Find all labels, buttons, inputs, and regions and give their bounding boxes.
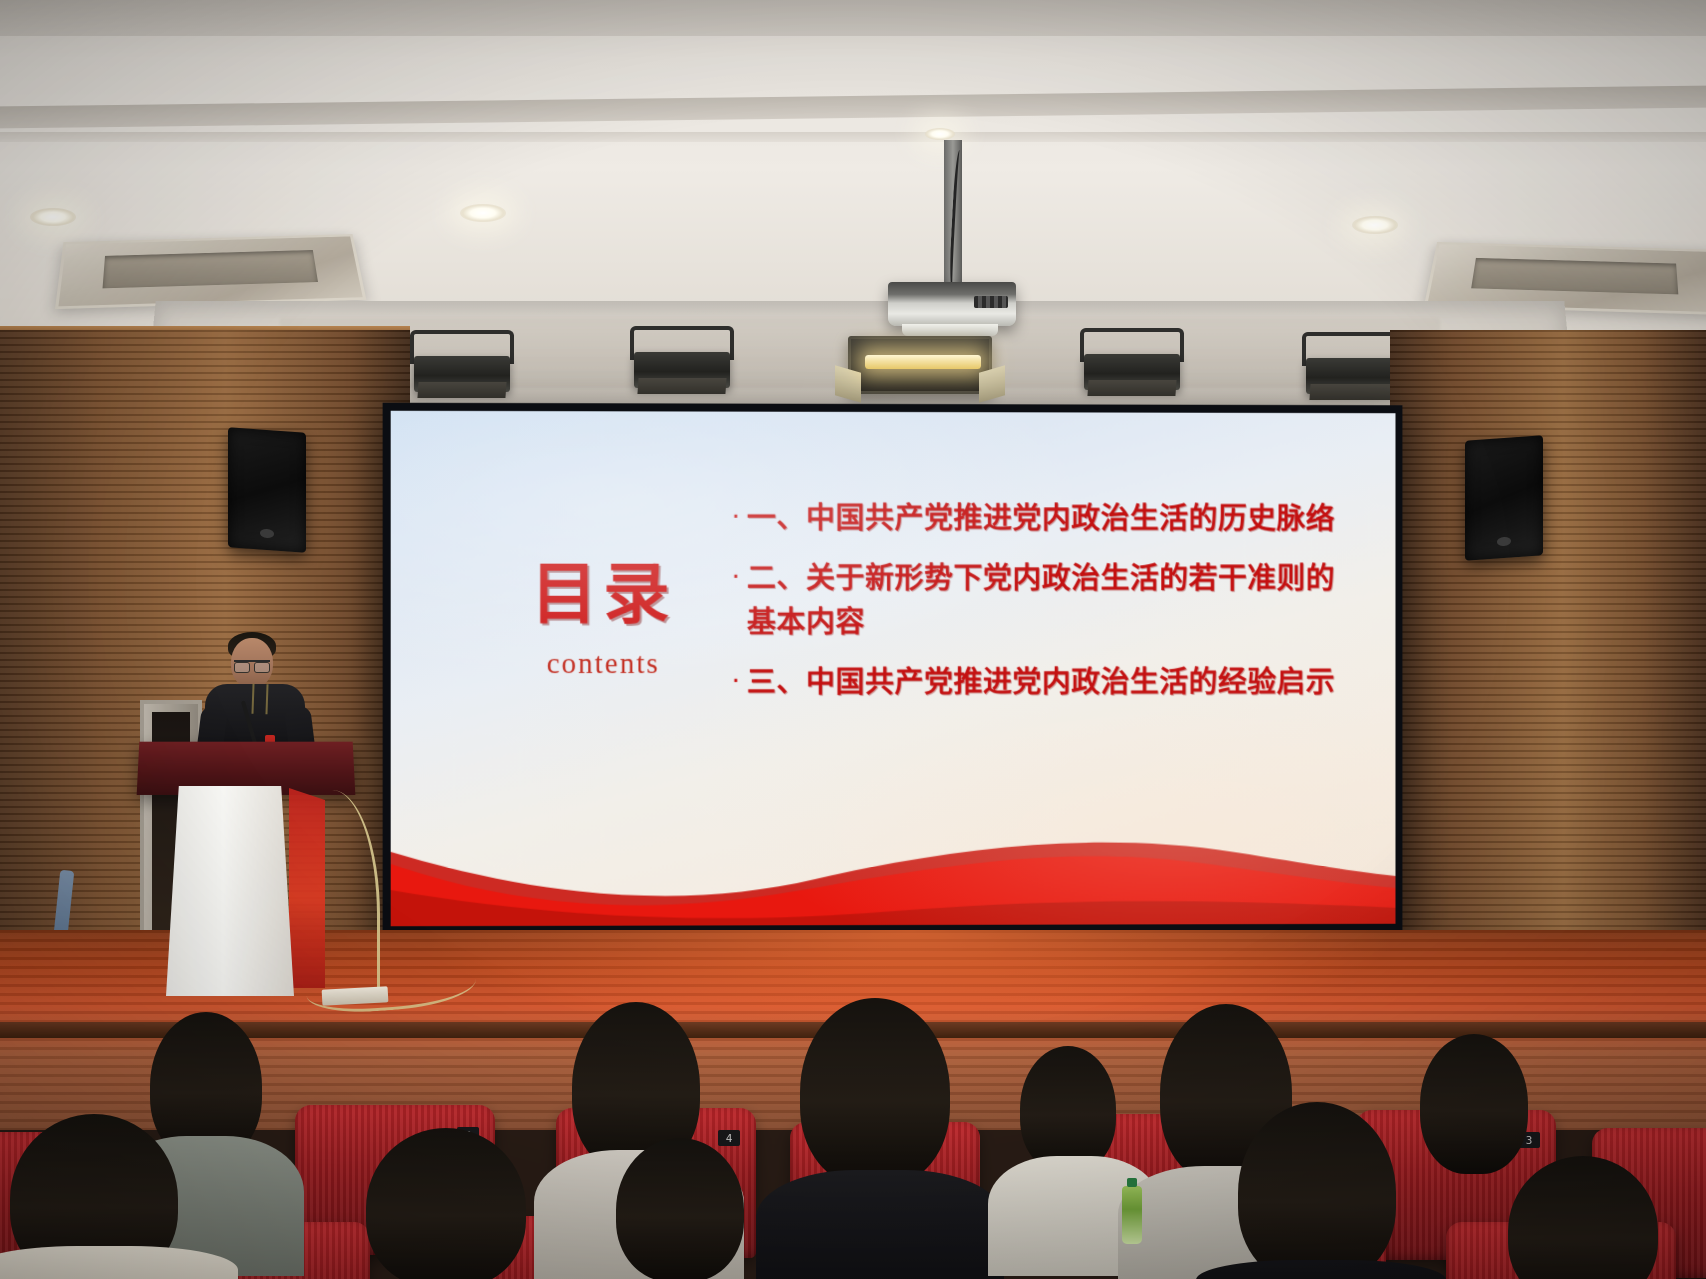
- presentation-slide: 目录 contents · 一、中国共产党推进党内政治生活的历史脉络 · 二、关…: [391, 411, 1396, 926]
- list-item-label: 一、中国共产党推进党内政治生活的历史脉络: [747, 496, 1335, 541]
- audience-person: [1420, 1034, 1528, 1174]
- audience-person: [800, 998, 950, 1186]
- podium: [166, 786, 294, 996]
- audience-seating: 6 4 3: [0, 1010, 1706, 1279]
- table-of-contents-list: · 一、中国共产党推进党内政治生活的历史脉络 · 二、关于新形势下党内政治生活的…: [731, 496, 1347, 721]
- bullet-icon: ·: [731, 500, 741, 530]
- lecture-hall-scene: 目录 contents · 一、中国共产党推进党内政治生活的历史脉络 · 二、关…: [0, 0, 1706, 1279]
- audience-person-shoulders: [756, 1170, 1004, 1279]
- list-item: · 一、中国共产党推进党内政治生活的历史脉络: [731, 496, 1347, 541]
- ceiling-downlight-icon: [460, 204, 506, 222]
- bullet-icon: ·: [731, 560, 741, 590]
- audience-person: [1020, 1046, 1116, 1172]
- slide-wave-decoration: [391, 804, 1396, 926]
- ceiling-beam: [0, 86, 1706, 129]
- eyeglasses-icon: [234, 660, 270, 669]
- seat-number-label: 4: [718, 1130, 740, 1146]
- stage-light-center-icon: [848, 336, 992, 394]
- projection-screen[interactable]: 目录 contents · 一、中国共产党推进党内政治生活的历史脉络 · 二、关…: [383, 403, 1403, 934]
- bullet-icon: ·: [731, 664, 741, 694]
- page-title: 目录: [488, 562, 719, 628]
- wall-speaker-icon: [228, 427, 306, 552]
- stage-light-icon: [628, 326, 736, 392]
- stage-light-icon: [408, 330, 516, 396]
- ceiling-downlight-icon: [925, 128, 955, 140]
- wood-wall-right: [1390, 330, 1706, 1030]
- audience-person: [1238, 1102, 1396, 1279]
- ceiling-edge-strip: [0, 0, 1706, 36]
- audience-person: [616, 1138, 744, 1279]
- lanyard-icon: [251, 684, 268, 715]
- list-item: · 二、关于新形势下党内政治生活的若干准则的基本内容: [731, 556, 1347, 644]
- ceiling-downlight-icon: [30, 208, 76, 226]
- ceiling-beam: [0, 132, 1706, 142]
- list-item-label: 二、关于新形势下党内政治生活的若干准则的基本内容: [747, 556, 1347, 644]
- slide-title-block: 目录 contents: [488, 562, 719, 681]
- audience-person: [366, 1128, 526, 1279]
- stage-light-icon: [1078, 328, 1186, 394]
- ceiling-downlight-icon: [1352, 216, 1398, 234]
- list-item-label: 三、中国共产党推进党内政治生活的经验启示: [747, 660, 1335, 704]
- wall-speaker-icon: [1465, 435, 1543, 560]
- air-conditioner-vent-icon: [55, 234, 366, 309]
- page-subtitle: contents: [488, 648, 719, 681]
- list-item: · 三、中国共产党推进党内政治生活的经验启示: [731, 660, 1347, 704]
- ceiling-projector-icon: [888, 282, 1016, 326]
- green-water-bottle-icon: [1122, 1186, 1142, 1244]
